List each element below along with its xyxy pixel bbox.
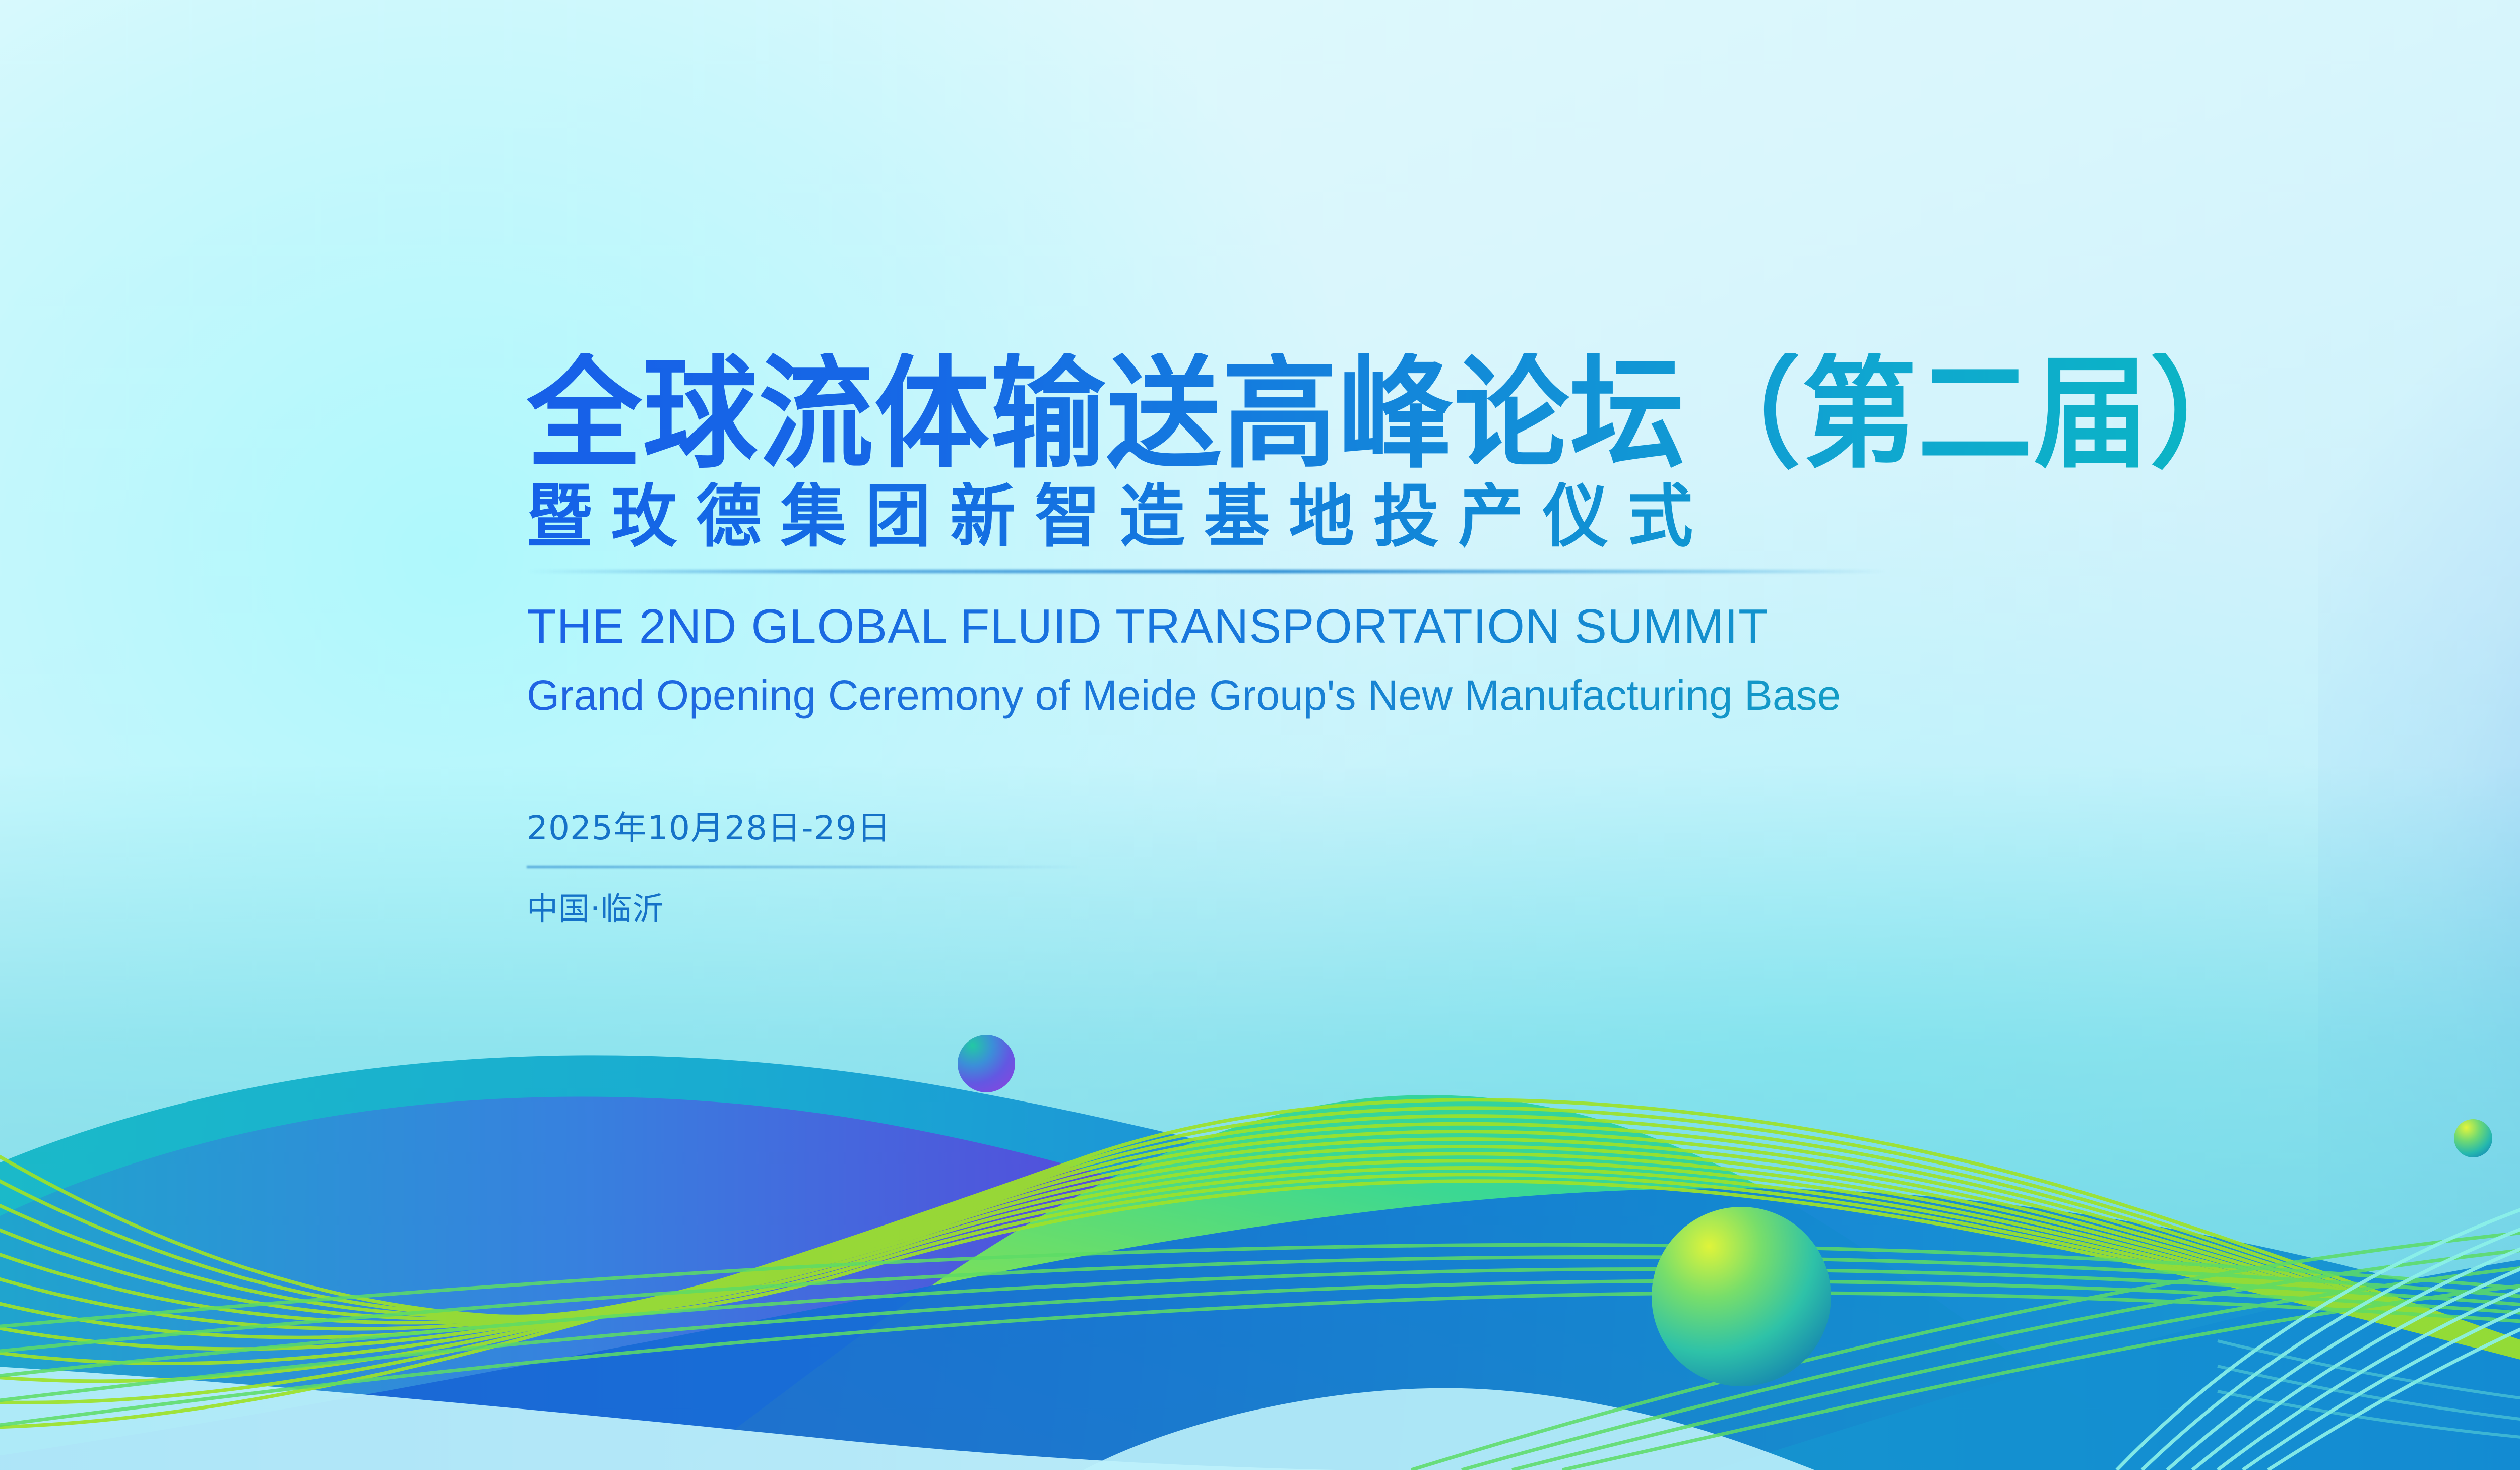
event-date: 2025年10月28日-29日 — [527, 801, 2520, 849]
event-meta: 2025年10月28日-29日 中国·临沂 — [527, 801, 2520, 929]
poster-canvas: 全球流体输送高峰论坛（第二届） 暨玫德集团新智造基地投产仪式 THE 2ND G… — [0, 0, 2520, 1470]
page-title: 全球流体输送高峰论坛（第二届） — [527, 353, 2520, 475]
sphere-small-teal-purple — [958, 1035, 1015, 1092]
page-subtitle-en: Grand Opening Ceremony of Meide Group's … — [527, 671, 2520, 720]
page-title-en: THE 2ND GLOBAL FLUID TRANSPORTATION SUMM… — [527, 599, 2520, 654]
event-location: 中国·临沂 — [527, 883, 2520, 929]
page-subtitle-cn: 暨玫德集团新智造基地投产仪式 — [527, 482, 2520, 551]
meta-divider — [527, 866, 1081, 868]
poster-text-block: 全球流体输送高峰论坛（第二届） 暨玫德集团新智造基地投产仪式 THE 2ND G… — [527, 353, 2520, 929]
sphere-tiny-lime — [2454, 1119, 2492, 1157]
title-divider — [527, 570, 1887, 573]
sphere-large-lime-teal — [1652, 1207, 1831, 1386]
